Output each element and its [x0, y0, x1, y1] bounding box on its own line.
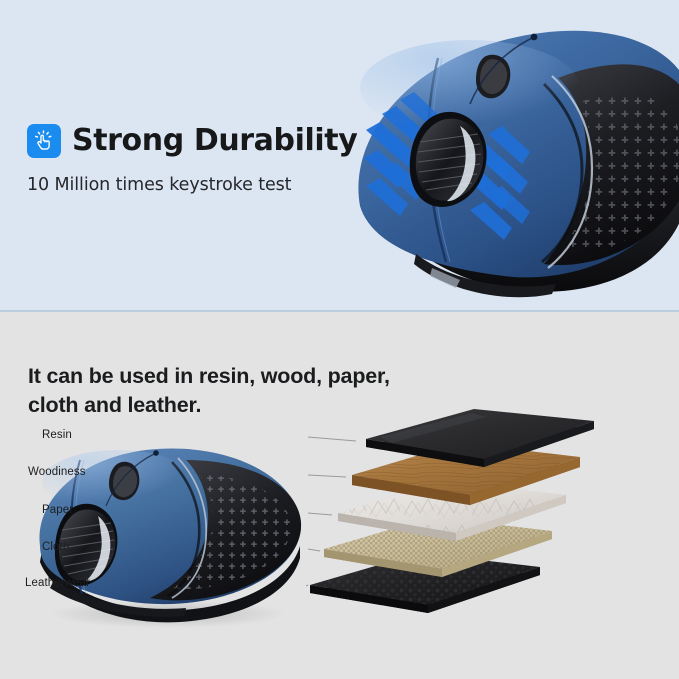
- mouse-closeup-image: [320, 18, 679, 310]
- usage-section: It can be used in resin, wood, paper, cl…: [0, 312, 679, 679]
- product-feature-image: Strong Durability 10 Million times keyst…: [0, 0, 679, 679]
- usage-title-line1: It can be used in resin, wood, paper,: [28, 362, 390, 391]
- material-label-resin: Resin: [42, 429, 72, 441]
- durability-feature-block: Strong Durability 10 Million times keyst…: [27, 124, 357, 195]
- material-label-paper: Paper: [42, 504, 73, 516]
- mouse-full-image: [18, 430, 318, 630]
- tap-hand-icon: [27, 124, 61, 158]
- material-label-woodiness: Woodiness: [28, 466, 86, 478]
- durability-heading-row: Strong Durability: [27, 124, 357, 158]
- material-label-cloth: Cloth: [42, 541, 69, 553]
- usage-title: It can be used in resin, wood, paper, cl…: [28, 362, 390, 420]
- durability-subtitle: 10 Million times keystroke test: [27, 175, 357, 195]
- durability-title: Strong Durability: [72, 126, 357, 156]
- material-label-leatherwear: Leatherwear: [25, 577, 90, 589]
- usage-title-line2: cloth and leather.: [28, 391, 390, 420]
- durability-section: Strong Durability 10 Million times keyst…: [0, 0, 679, 312]
- material-stack: Resin Woodiness Paper Cloth Leatherwear: [300, 417, 679, 647]
